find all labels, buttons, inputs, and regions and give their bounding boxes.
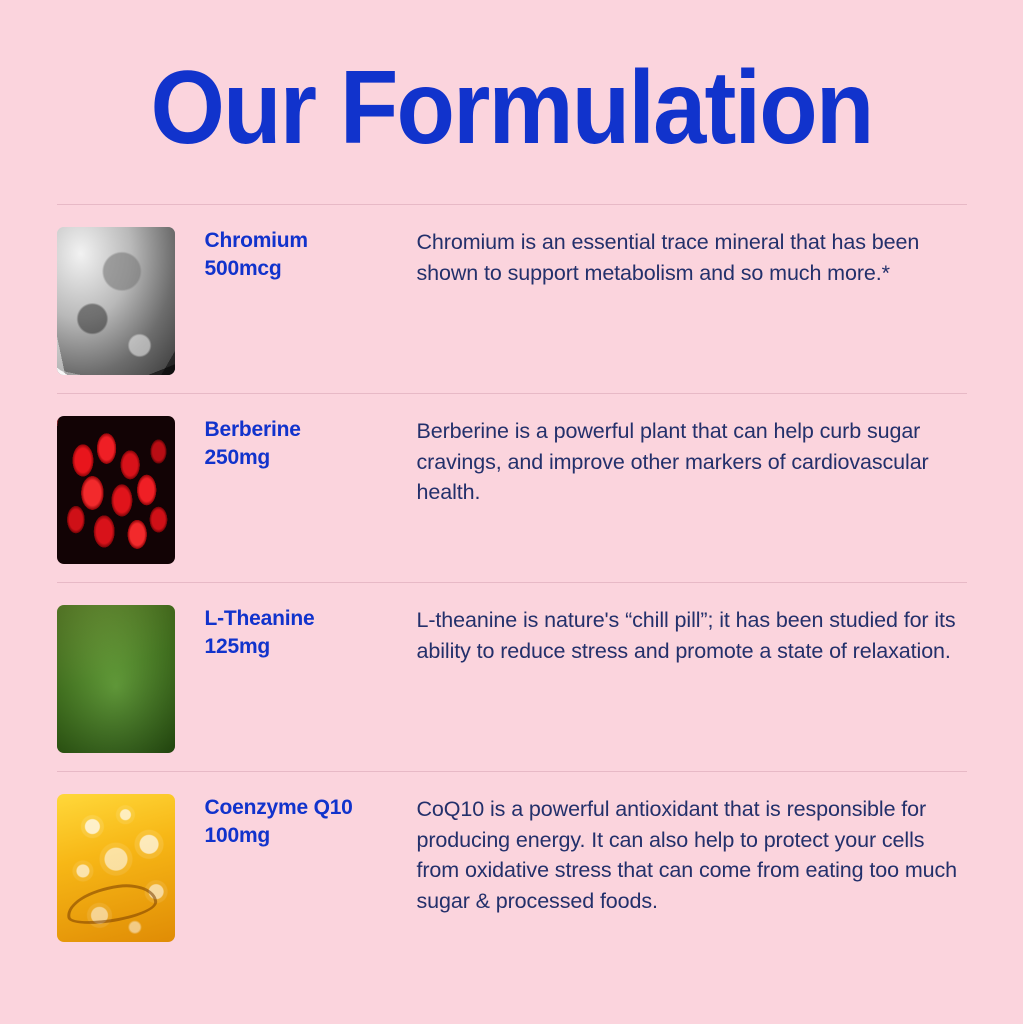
chromium-crystals-photo <box>57 227 175 375</box>
list-item: Coenzyme Q10 100mg CoQ10 is a powerful a… <box>57 771 967 960</box>
list-item: L-Theanine 125mg L-theanine is nature's … <box>57 582 967 771</box>
ingredient-description: Berberine is a powerful plant that can h… <box>407 416 967 508</box>
list-item: Berberine 250mg Berberine is a powerful … <box>57 393 967 582</box>
ingredient-name: L-Theanine <box>205 605 407 633</box>
ingredient-description: Chromium is an essential trace mineral t… <box>407 227 967 288</box>
ingredient-name-column: Coenzyme Q10 100mg <box>175 794 407 851</box>
formulation-page: Our Formulation Chromium 500mcg Chromium… <box>0 0 1023 1024</box>
ingredient-dose: 250mg <box>205 444 407 472</box>
ingredient-dose: 100mg <box>205 822 407 850</box>
green-tea-leaves-photo <box>57 605 175 753</box>
ingredient-dose: 125mg <box>205 633 407 661</box>
ingredient-name-column: Chromium 500mcg <box>175 227 407 284</box>
coq10-golden-oil-photo <box>57 794 175 942</box>
ingredient-description: CoQ10 is a powerful antioxidant that is … <box>407 794 967 916</box>
ingredient-name-column: L-Theanine 125mg <box>175 605 407 662</box>
ingredient-dose: 500mcg <box>205 255 407 283</box>
ingredient-name: Chromium <box>205 227 407 255</box>
ingredient-description: L-theanine is nature's “chill pill”; it … <box>407 605 967 666</box>
ingredient-name-column: Berberine 250mg <box>175 416 407 473</box>
ingredient-list: Chromium 500mcg Chromium is an essential… <box>57 204 967 960</box>
ingredient-name: Berberine <box>205 416 407 444</box>
berberine-berries-photo <box>57 416 175 564</box>
page-title: Our Formulation <box>41 0 982 160</box>
list-item: Chromium 500mcg Chromium is an essential… <box>57 204 967 393</box>
ingredient-name: Coenzyme Q10 <box>205 794 407 822</box>
